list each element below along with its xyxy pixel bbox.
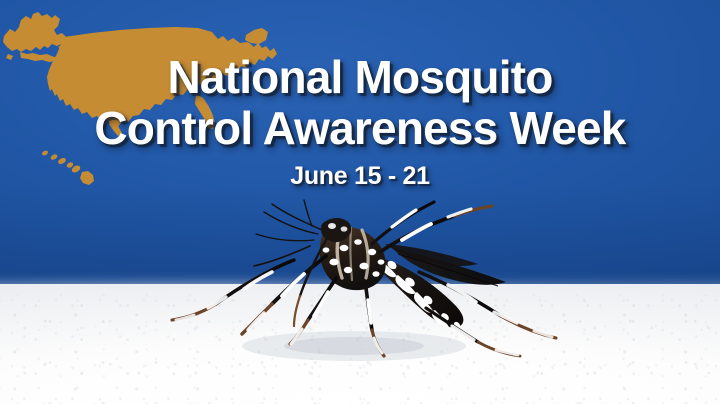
united-states-map-icon [0,2,300,192]
awareness-week-poster: National Mosquito Control Awareness Week… [0,0,720,404]
asian-tiger-mosquito-image [176,196,596,404]
